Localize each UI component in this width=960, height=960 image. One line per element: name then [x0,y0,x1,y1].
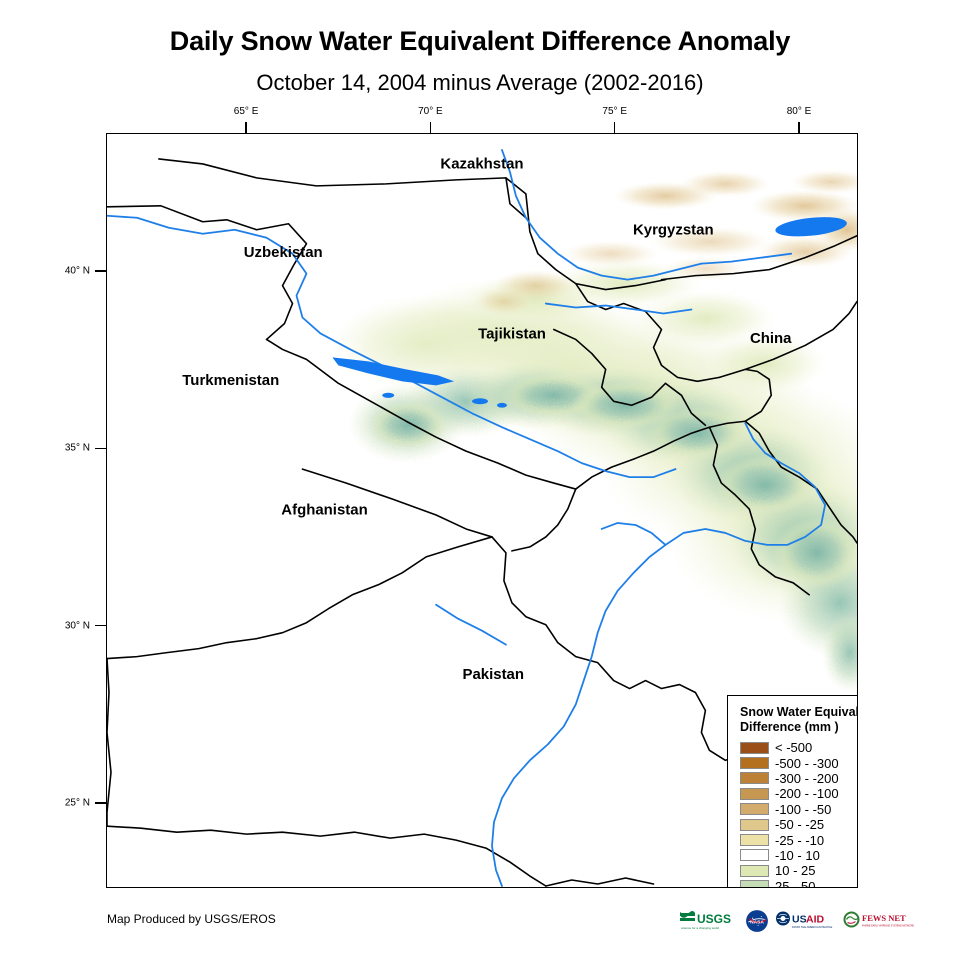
legend-label: -100 - -50 [775,803,831,816]
legend-label: < -500 [775,741,812,754]
legend-swatch [740,788,769,800]
map-legend[interactable]: Snow Water Equivalent Difference (mm ) <… [727,695,858,888]
legend-swatch [740,772,769,784]
longitude-tick-label: 75° E [602,106,627,117]
usgs-logo[interactable]: USGS science for a changing world [679,908,739,934]
svg-text:science for a changing world: science for a changing world [681,926,719,930]
country-label: Pakistan [463,666,525,683]
legend-row: -300 - -200 [740,771,858,786]
svg-text:US: US [792,914,807,926]
svg-text:FAMINE EARLY WARNING SYSTEMS N: FAMINE EARLY WARNING SYSTEMS NETWORK [862,925,915,928]
country-label: Kyrgyzstan [633,222,714,239]
country-label: Tajikistan [478,325,546,342]
legend-row: -500 - -300 [740,755,858,770]
latitude-tick [95,625,106,627]
longitude-tick [245,122,247,133]
legend-title-line1: Snow Water Equivalent [740,705,858,720]
legend-swatch [740,819,769,831]
legend-label: -25 - -10 [775,834,824,847]
country-label: Turkmenistan [182,372,279,389]
legend-row: -50 - -25 [740,817,858,832]
legend-swatch [740,757,769,769]
legend-swatch [740,880,769,888]
legend-label: -10 - 10 [775,849,820,862]
country-label: Uzbekistan [244,244,323,261]
longitude-tick-label: 80° E [787,106,812,117]
usaid-logo[interactable]: US AID FROM THE AMERICAN PEOPLE [775,908,837,934]
page-title: Daily Snow Water Equivalent Difference A… [0,26,960,57]
legend-row: 25 - 50 [740,879,858,888]
country-label: China [750,330,792,347]
map-frame[interactable]: KazakhstanKyrgyzstanUzbekistanTajikistan… [106,133,858,888]
latitude-tick [95,448,106,450]
svg-text:NASA: NASA [750,920,764,926]
legend-label: -500 - -300 [775,757,839,770]
latitude-tick [95,270,106,272]
legend-row: -200 - -100 [740,786,858,801]
longitude-tick [430,122,432,133]
map-page: Daily Snow Water Equivalent Difference A… [0,0,960,960]
legend-title: Snow Water Equivalent Difference (mm ) [740,705,858,735]
longitude-tick-label: 65° E [234,106,259,117]
legend-swatch [740,834,769,846]
legend-swatch [740,849,769,861]
agency-logos: USGS science for a changing world NASA [679,908,915,934]
latitude-tick-label: 35° N [46,443,90,454]
legend-row: -25 - -10 [740,832,858,847]
svg-text:FROM THE AMERICAN PEOPLE: FROM THE AMERICAN PEOPLE [792,925,832,929]
legend-row: -10 - 10 [740,848,858,863]
legend-label: -200 - -100 [775,787,839,800]
country-label: Afghanistan [281,502,367,519]
legend-row: < -500 [740,740,858,755]
legend-entries: < -500-500 - -300-300 - -200-200 - -100-… [740,740,858,888]
legend-label: 25 - 50 [775,880,815,888]
latitude-tick-label: 25° N [46,797,90,808]
producer-credit: Map Produced by USGS/EROS [107,912,276,926]
svg-text:AID: AID [806,914,825,926]
legend-title-line2: Difference (mm ) [740,720,858,735]
nasa-logo[interactable]: NASA [745,908,769,934]
page-subtitle: October 14, 2004 minus Average (2002-201… [0,70,960,96]
fewsnet-logo[interactable]: FEWS NET FAMINE EARLY WARNING SYSTEMS NE… [843,908,915,934]
latitude-tick-label: 30° N [46,620,90,631]
legend-label: -50 - -25 [775,818,824,831]
svg-text:USGS: USGS [697,912,731,926]
longitude-tick [614,122,616,133]
longitude-tick [798,122,800,133]
country-label: Kazakhstan [440,155,523,172]
latitude-tick-label: 40° N [46,266,90,277]
latitude-tick [95,802,106,804]
legend-swatch [740,742,769,754]
legend-row: -100 - -50 [740,802,858,817]
legend-row: 10 - 25 [740,863,858,878]
svg-text:FEWS NET: FEWS NET [862,913,906,923]
longitude-tick-label: 70° E [418,106,443,117]
legend-label: 10 - 25 [775,864,815,877]
legend-label: -300 - -200 [775,772,839,785]
legend-swatch [740,865,769,877]
legend-swatch [740,803,769,815]
